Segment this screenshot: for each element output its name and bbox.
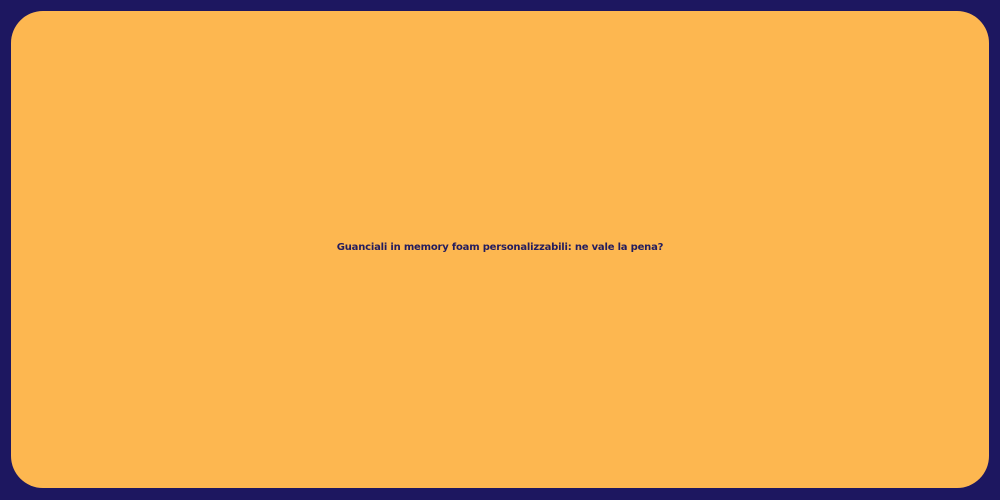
banner-headline: Guanciali in memory foam personalizzabil… xyxy=(51,242,949,254)
banner-root: Guanciali in memory foam personalizzabil… xyxy=(0,0,1000,500)
banner-outer-frame: Guanciali in memory foam personalizzabil… xyxy=(0,0,1000,500)
headline-container: Guanciali in memory foam personalizzabil… xyxy=(11,242,989,254)
banner-card-panel: Guanciali in memory foam personalizzabil… xyxy=(11,11,989,488)
